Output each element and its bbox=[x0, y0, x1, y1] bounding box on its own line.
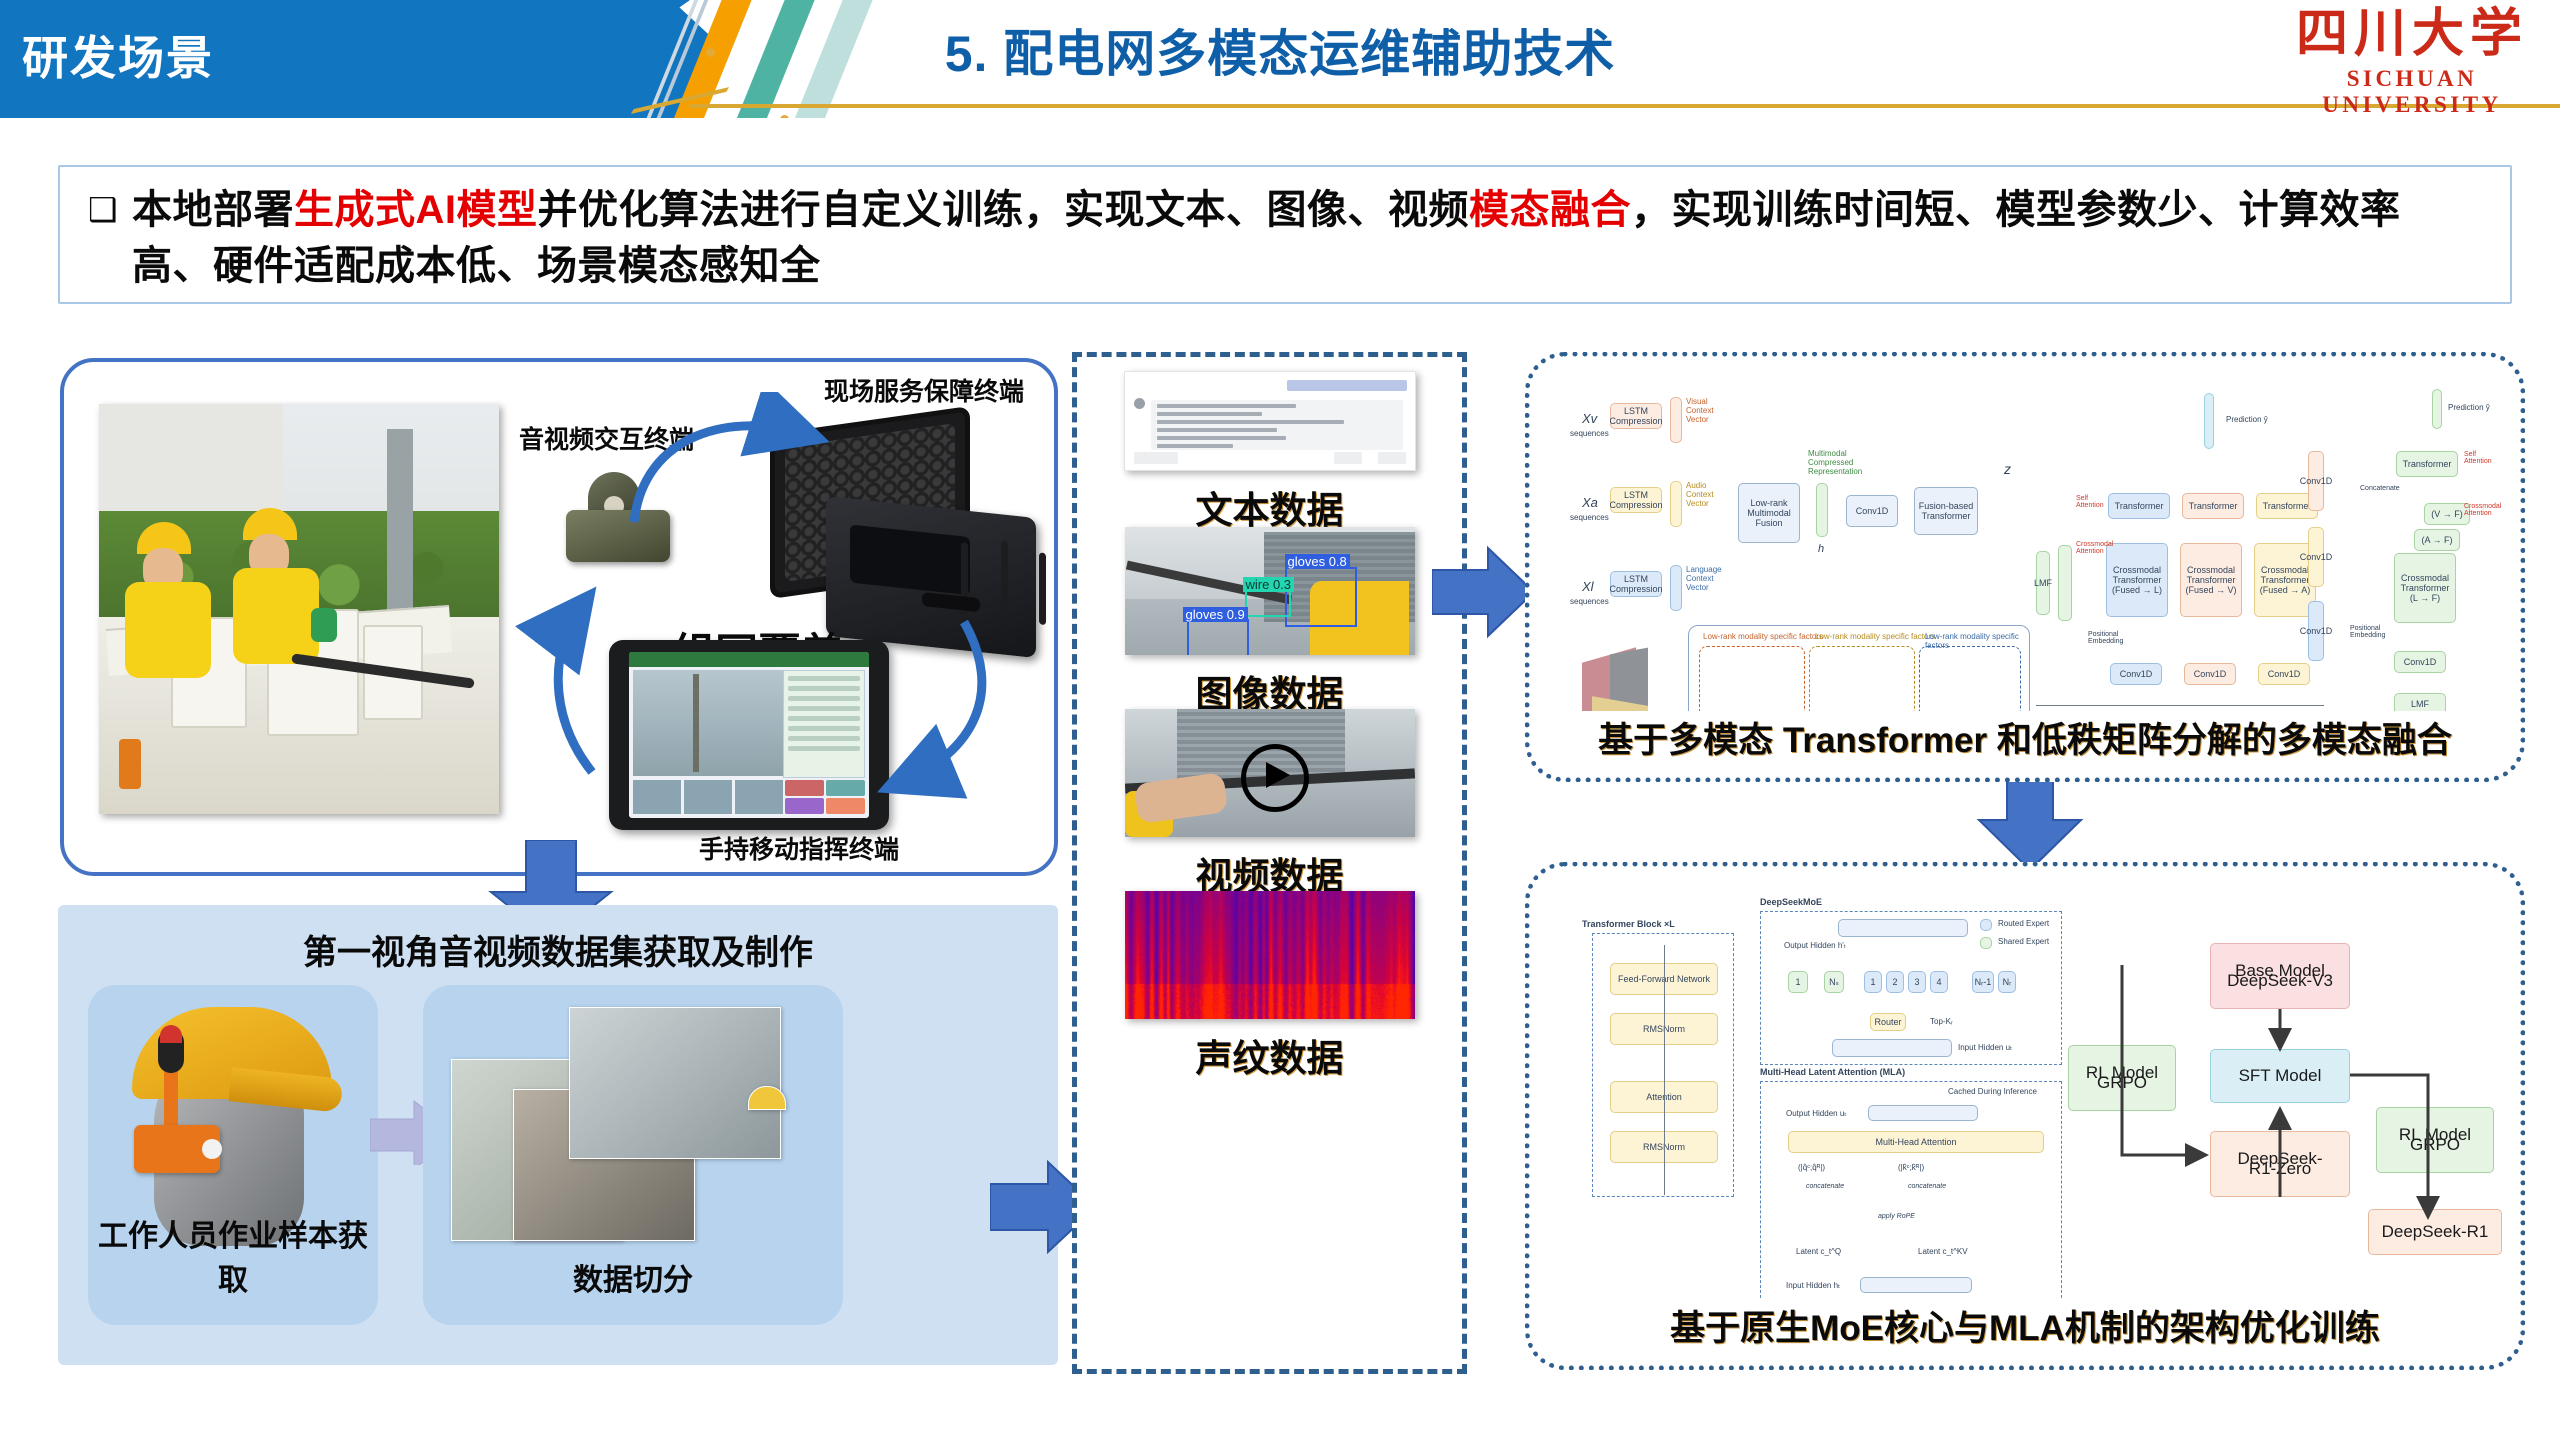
mla-input-hidden-row bbox=[1860, 1277, 1972, 1293]
mla-input-hidden-label: Input Hidden hₜ bbox=[1786, 1281, 1840, 1290]
summary-bullet-text: ❑本地部署生成式AI模型并优化算法进行自定义训练，实现文本、图像、视频模态融合，… bbox=[88, 182, 2490, 294]
arrow-case-to-tablet bbox=[824, 602, 1064, 852]
chat-copy-button[interactable] bbox=[1378, 452, 1406, 464]
photo-pole bbox=[387, 429, 413, 618]
text-data-thumbnail bbox=[1124, 371, 1416, 471]
diagram-node-conv1d-left: Conv1D bbox=[1846, 495, 1898, 527]
logo-chinese-text: 四川大学 bbox=[2278, 6, 2546, 64]
moe-legend-routed-label: Routed Expert bbox=[1998, 919, 2049, 928]
arrow-tablet-to-av bbox=[484, 542, 784, 842]
diagram-conv1d-v: Conv1D bbox=[2184, 663, 2236, 685]
slide-header: 研发场景 5. 配电网多模态运维辅助技术 四川大学 SICHUAN UNIVER… bbox=[0, 0, 2560, 118]
diagram-node-lstm-1: LSTM Compression bbox=[1610, 403, 1662, 429]
diagram-node-lstm-3: LSTM Compression bbox=[1610, 571, 1662, 597]
chat-regenerate-button[interactable] bbox=[1134, 452, 1178, 464]
worker-2-glove bbox=[311, 608, 337, 642]
diagram-right-a-to-f: (A → F) bbox=[2414, 529, 2460, 551]
arrow-modalities-to-fusion bbox=[1432, 540, 1537, 645]
pipeline-arrows bbox=[2048, 925, 2502, 1285]
modality-item-image: gloves 0.8 wire 0.3 gloves 0.9 图像数据 bbox=[1077, 527, 1462, 718]
modality-item-video: 视频数据 bbox=[1077, 709, 1462, 900]
detection-label-gloves-08: gloves 0.8 bbox=[1285, 554, 1350, 569]
diagram-node-lstm-2: LSTM Compression bbox=[1610, 487, 1662, 513]
diagram-right-self-attention-label: Self Attention bbox=[2464, 451, 2492, 465]
diagram-factor-group-audio bbox=[1809, 646, 1915, 711]
mla-cached-label: Cached During Inference bbox=[1948, 1087, 2037, 1096]
diagram-node-Xa: Xa bbox=[1582, 495, 1598, 510]
diagram-lowrank-label-2: Low-rank modality specific factors bbox=[1815, 632, 1935, 641]
detection-label-wire-03: wire 0.3 bbox=[1243, 577, 1295, 592]
moe-training-caption: 基于原生MoE核心与MLA机制的架构优化训练 bbox=[1530, 1300, 2520, 1351]
chat-assistant-avatar-icon bbox=[1134, 398, 1145, 409]
diagram-right-conv1d-bar-1: Conv1D bbox=[2308, 451, 2324, 511]
dataset-panel-title: 第一视角音视频数据集获取及制作 bbox=[58, 925, 1058, 974]
diagram-conv1d-a: Conv1D bbox=[2258, 663, 2310, 685]
data-segmentation-label: 数据切分 bbox=[423, 1255, 843, 1299]
mla-output-hidden-row bbox=[1868, 1105, 1978, 1121]
moe-shared-expert-1: 1 bbox=[1788, 971, 1808, 993]
modality-data-panel: 文本数据 gloves 0.8 wire 0.3 gloves 0.9 图像数据 bbox=[1072, 352, 1467, 1374]
diagram-node-language-vector-bar bbox=[1670, 565, 1682, 611]
moe-transformer-block-label: Transformer Block ×L bbox=[1582, 919, 1675, 929]
mla-multi-head-attention: Multi-Head Attention bbox=[1788, 1131, 2044, 1153]
chat-answer-line bbox=[1157, 420, 1344, 424]
diagram-feedback-line-1 bbox=[2036, 705, 2324, 706]
diagram-transformer-v: Transformer bbox=[2182, 493, 2244, 519]
sample-capture-card: 工作人员作业样本获取 bbox=[88, 985, 378, 1325]
play-triangle-icon bbox=[1266, 762, 1290, 788]
diagram-node-Xl: Xl bbox=[1582, 579, 1594, 594]
diagram-transformer-l: Transformer bbox=[2108, 493, 2170, 519]
fusion-architecture-diagram: Xv sequences LSTM Compression Visual Con… bbox=[1548, 375, 2502, 711]
diagram-self-attention-label-mid: Self Attention bbox=[2076, 495, 2106, 509]
diagram-node-h: h bbox=[1818, 543, 1824, 555]
diagram-crossmodal-v: Crossmodal Transformer (Fused → V) bbox=[2180, 543, 2242, 617]
diagram-node-sequences-v: sequences bbox=[1570, 429, 1609, 438]
voiceprint-data-thumbnail bbox=[1125, 891, 1415, 1019]
chat-answer-line bbox=[1157, 404, 1296, 408]
body-camera-lens-icon bbox=[202, 1139, 222, 1159]
diagram-crossmodal-l: Crossmodal Transformer (Fused → L) bbox=[2106, 543, 2168, 617]
page-title: 5. 配电网多模态运维辅助技术 bbox=[0, 14, 2560, 86]
chat-answer-line bbox=[1157, 436, 1287, 440]
moe-architecture-diagram: Transformer Block ×L Feed-Forward Networ… bbox=[1548, 885, 2502, 1299]
moe-shared-expert-n: Nₛ bbox=[1824, 971, 1844, 993]
logo-english-text: SICHUAN UNIVERSITY bbox=[2278, 66, 2546, 118]
terminal-devices-panel: 音视频交互终端 现场服务保障终端 组网覆盖 bbox=[60, 358, 1058, 876]
tablet-action-button bbox=[785, 798, 824, 814]
diagram-right-lmf: LMF bbox=[2394, 693, 2446, 711]
mla-latent-q-label: Latent c_t^Q bbox=[1796, 1247, 1841, 1256]
mla-rope-label: apply RoPE bbox=[1878, 1213, 1915, 1220]
moe-routed-expert-nr: Nᵣ bbox=[1998, 971, 2016, 993]
detection-box-gloves-low bbox=[1187, 619, 1249, 655]
bullet-marker-icon: ❑ bbox=[88, 182, 132, 238]
diagram-node-mcr-bar bbox=[1816, 483, 1828, 537]
diagram-right-crossmodal-attention-label: Crossmodal Attention bbox=[2464, 503, 2494, 517]
diagram-factor-group-visual bbox=[1699, 646, 1805, 711]
diagram-prediction-bar bbox=[2204, 393, 2214, 449]
diagram-node-sequences-a: sequences bbox=[1570, 513, 1609, 522]
bullet-part-2: 并优化算法进行自定义训练，实现文本、图像、视频 bbox=[538, 188, 1470, 232]
diagram-conv1d-bar-mid bbox=[2058, 545, 2072, 621]
diagram-node-sequences-l: sequences bbox=[1570, 597, 1609, 606]
tablet-action-button bbox=[785, 780, 824, 796]
voiceprint-data-caption: 声纹数据 bbox=[1077, 1028, 1462, 1082]
diagram-right-conv1d: Conv1D bbox=[2394, 651, 2446, 673]
diagram-node-language-context-vector: Language Context Vector bbox=[1686, 565, 1730, 592]
header-gold-dot-1 bbox=[780, 115, 789, 118]
segmentation-collage bbox=[451, 1001, 811, 1263]
diagram-right-positional-embedding: Positional Embedding bbox=[2350, 625, 2384, 639]
diagram-factor-group-language bbox=[1919, 646, 2021, 711]
moe-routed-expert-2: 2 bbox=[1886, 971, 1904, 993]
spectrogram-canvas bbox=[1125, 891, 1415, 1019]
mla-concat-label-2: concatenate bbox=[1908, 1183, 1946, 1190]
collage-frame-3 bbox=[569, 1007, 781, 1159]
worker-2-jacket bbox=[233, 568, 319, 664]
moe-legend-shared-label: Shared Expert bbox=[1998, 937, 2049, 946]
diagram-node-mcr-label: Multimodal Compressed Representation bbox=[1808, 449, 1858, 476]
diagram-positional-embedding-mid: Positional Embedding bbox=[2088, 631, 2122, 645]
diagram-right-transformer: Transformer bbox=[2396, 451, 2458, 477]
moe-group-title: DeepSeekMoE bbox=[1760, 897, 1822, 907]
multimodal-fusion-panel: Xv sequences LSTM Compression Visual Con… bbox=[1525, 352, 2525, 782]
diagram-equation-z: z bbox=[2004, 461, 2011, 477]
diagram-node-visual-vector-bar bbox=[1670, 397, 1682, 443]
diagram-node-audio-context-vector: Audio Context Vector bbox=[1686, 481, 1726, 508]
diagram-prediction-label: Prediction ŷ bbox=[2226, 415, 2268, 424]
slide-root: 研发场景 5. 配电网多模态运维辅助技术 四川大学 SICHUAN UNIVER… bbox=[0, 0, 2560, 1440]
video-data-thumbnail bbox=[1125, 709, 1415, 837]
play-icon[interactable] bbox=[1241, 744, 1309, 812]
diagram-right-conv1d-bar-2: Conv1D bbox=[2308, 527, 2324, 587]
data-segmentation-card: 数据切分 bbox=[423, 985, 843, 1325]
diagram-lowrank-factors-box: Low-rank modality specific factors Low-r… bbox=[1688, 625, 2030, 711]
chat-question-bubble bbox=[1287, 380, 1407, 391]
worker-1-jacket bbox=[125, 582, 211, 678]
modality-item-voiceprint: 声纹数据 bbox=[1077, 891, 1462, 1082]
diagram-right-crossmodal-l-to-f: Crossmodal Transformer (L → F) bbox=[2394, 553, 2456, 623]
detection-box-gloves-high bbox=[1285, 567, 1357, 627]
bullet-part-1: 本地部署 bbox=[132, 188, 294, 232]
moe-legend-shared-swatch bbox=[1980, 937, 1992, 949]
field-workers-photo bbox=[99, 404, 499, 814]
moe-routed-expert-3: 3 bbox=[1908, 971, 1926, 993]
bullet-highlight-2: 模态融合 bbox=[1469, 188, 1631, 232]
diagram-crossmodal-attention-label-mid: Crossmodal Attention bbox=[2076, 541, 2106, 555]
arrow-fusion-to-training bbox=[1975, 772, 2085, 872]
image-data-thumbnail: gloves 0.8 wire 0.3 gloves 0.9 bbox=[1125, 527, 1415, 655]
chat-delete-button[interactable] bbox=[1334, 452, 1362, 464]
modality-item-text: 文本数据 bbox=[1077, 371, 1462, 534]
diagram-node-Xv: Xv bbox=[1582, 411, 1597, 426]
chat-answer-bubble bbox=[1151, 400, 1403, 450]
diagram-node-visual-context-vector: Visual Context Vector bbox=[1686, 397, 1726, 424]
moe-routed-expert-nr-1: Nᵣ-1 bbox=[1972, 971, 1994, 993]
moe-residual-line bbox=[1664, 945, 1665, 1195]
moe-legend-routed-swatch bbox=[1980, 919, 1992, 931]
moe-router: Router bbox=[1870, 1013, 1906, 1031]
diagram-node-audio-vector-bar bbox=[1670, 481, 1682, 527]
text-data-caption: 文本数据 bbox=[1077, 480, 1462, 534]
moe-routed-expert-4: 4 bbox=[1930, 971, 1948, 993]
chat-answer-line bbox=[1157, 444, 1234, 448]
moe-output-hidden-row bbox=[1838, 919, 1968, 937]
detection-label-gloves-09: gloves 0.9 bbox=[1183, 607, 1248, 622]
diagram-right-conv1d-bar-3: Conv1D bbox=[2308, 601, 2324, 661]
bullet-body: 本地部署生成式AI模型并优化算法进行自定义训练，实现文本、图像、视频模态融合，实… bbox=[132, 182, 2452, 294]
mla-group-title: Multi-Head Latent Attention (MLA) bbox=[1760, 1067, 1905, 1077]
mla-k-label: (|k̂ᶜ;k̂ᴿ|) bbox=[1898, 1163, 1924, 1172]
mla-output-hidden-label: Output Hidden uₜ bbox=[1786, 1109, 1847, 1118]
summary-bullet-box: ❑本地部署生成式AI模型并优化算法进行自定义训练，实现文本、图像、视频模态融合，… bbox=[58, 165, 2512, 304]
diagram-right-output-bar bbox=[2432, 389, 2442, 429]
dataset-capture-panel: 第一视角音视频数据集获取及制作 工作人员作业样本获取 bbox=[58, 905, 1058, 1365]
sichuan-university-logo: 四川大学 SICHUAN UNIVERSITY bbox=[2278, 6, 2546, 110]
chat-answer-line bbox=[1157, 428, 1277, 432]
diagram-conv1d-l: Conv1D bbox=[2110, 663, 2162, 685]
collage-worker-helmet bbox=[748, 1086, 786, 1110]
mla-concat-label-1: concatenate bbox=[1806, 1183, 1844, 1190]
diagram-node-fusion-transformer: Fusion-based Transformer bbox=[1914, 487, 1978, 535]
photo-traffic-cone bbox=[119, 739, 141, 789]
chat-answer-line bbox=[1157, 412, 1263, 416]
mla-q-label: (|q̂ᶜ;q̂ᴿ|) bbox=[1798, 1163, 1825, 1172]
diagram-right-concatenate-label: Concatenate bbox=[2360, 485, 2400, 492]
moe-input-hidden-label: Input Hidden uₜ bbox=[1958, 1043, 2012, 1052]
moe-input-hidden-row bbox=[1832, 1039, 1952, 1057]
moe-output-hidden-label: Output Hidden h'ₜ bbox=[1784, 941, 1846, 950]
sample-capture-label: 工作人员作业样本获取 bbox=[88, 1211, 378, 1299]
moe-routed-expert-1: 1 bbox=[1864, 971, 1882, 993]
bullet-highlight-1: 生成式AI模型 bbox=[294, 188, 538, 232]
diagram-lmf-bar-mid: LMF bbox=[2036, 551, 2050, 615]
diagram-right-prediction-label: Prediction ŷ bbox=[2448, 403, 2490, 412]
moe-training-panel: Transformer Block ×L Feed-Forward Networ… bbox=[1525, 862, 2525, 1370]
diagram-node-low-rank-fusion: Low-rank Multimodal Fusion bbox=[1738, 483, 1800, 543]
mla-latent-kv-label: Latent c_t^KV bbox=[1918, 1247, 1968, 1256]
multimodal-fusion-caption: 基于多模态 Transformer 和低秩矩阵分解的多模态融合 bbox=[1530, 712, 2520, 763]
chat-footer-bar bbox=[1134, 452, 1406, 464]
camera-knob-top bbox=[160, 1025, 182, 1043]
diagram-lowrank-label-1: Low-rank modality specific factors bbox=[1703, 632, 1823, 641]
moe-topk-label: Top-Kᵣ bbox=[1930, 1017, 1953, 1026]
video-worker-hand bbox=[1134, 772, 1229, 824]
